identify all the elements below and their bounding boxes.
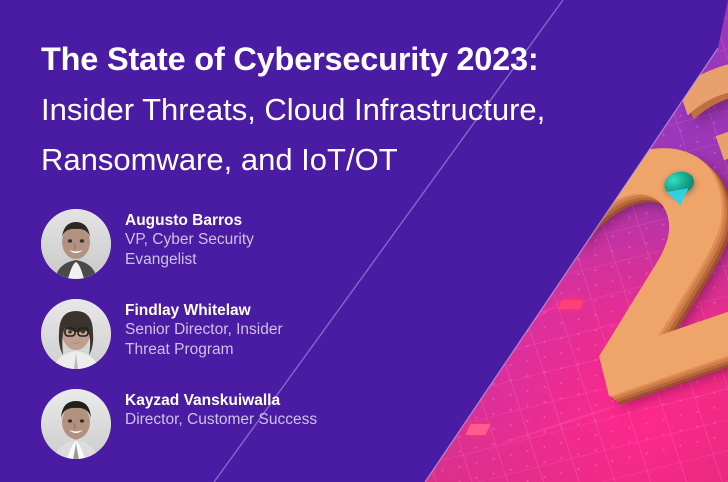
speaker-name: Findlay Whitelaw bbox=[125, 302, 283, 320]
avatar bbox=[41, 209, 111, 279]
speaker-role-line-1: Senior Director, Insider bbox=[125, 320, 283, 340]
speaker-role-line-2: Evangelist bbox=[125, 250, 254, 270]
speaker-item: Findlay Whitelaw Senior Director, Inside… bbox=[41, 296, 317, 386]
speaker-text: Findlay Whitelaw Senior Director, Inside… bbox=[125, 296, 283, 361]
speaker-name: Kayzad Vanskuiwalla bbox=[125, 392, 317, 410]
speaker-role-line-2: Threat Program bbox=[125, 340, 283, 360]
speaker-role-line-1: Director, Customer Success bbox=[125, 410, 317, 430]
page-subtitle-line-1: Insider Threats, Cloud Infrastructure, bbox=[41, 85, 701, 135]
speaker-text: Kayzad Vanskuiwalla Director, Customer S… bbox=[125, 386, 317, 430]
title-block: The State of Cybersecurity 2023: Insider… bbox=[41, 43, 701, 185]
avatar bbox=[41, 389, 111, 459]
speaker-text: Augusto Barros VP, Cyber Security Evange… bbox=[125, 206, 254, 271]
content-column: The State of Cybersecurity 2023: Insider… bbox=[41, 0, 701, 482]
speaker-list: Augusto Barros VP, Cyber Security Evange… bbox=[41, 206, 317, 466]
portrait-augusto-barros-icon bbox=[41, 209, 111, 279]
page-title: The State of Cybersecurity 2023: bbox=[41, 43, 701, 76]
webinar-title-card: 3 2 The State of Cybersecurity 2023: Ins… bbox=[0, 0, 728, 482]
speaker-name: Augusto Barros bbox=[125, 212, 254, 230]
speaker-role-line-1: VP, Cyber Security bbox=[125, 230, 254, 250]
portrait-findlay-whitelaw-icon bbox=[41, 299, 111, 369]
page-subtitle-line-2: Ransomware, and IoT/OT bbox=[41, 135, 701, 185]
speaker-item: Augusto Barros VP, Cyber Security Evange… bbox=[41, 206, 317, 296]
portrait-kayzad-vanskuiwalla-icon bbox=[41, 389, 111, 459]
speaker-item: Kayzad Vanskuiwalla Director, Customer S… bbox=[41, 386, 317, 466]
avatar bbox=[41, 299, 111, 369]
